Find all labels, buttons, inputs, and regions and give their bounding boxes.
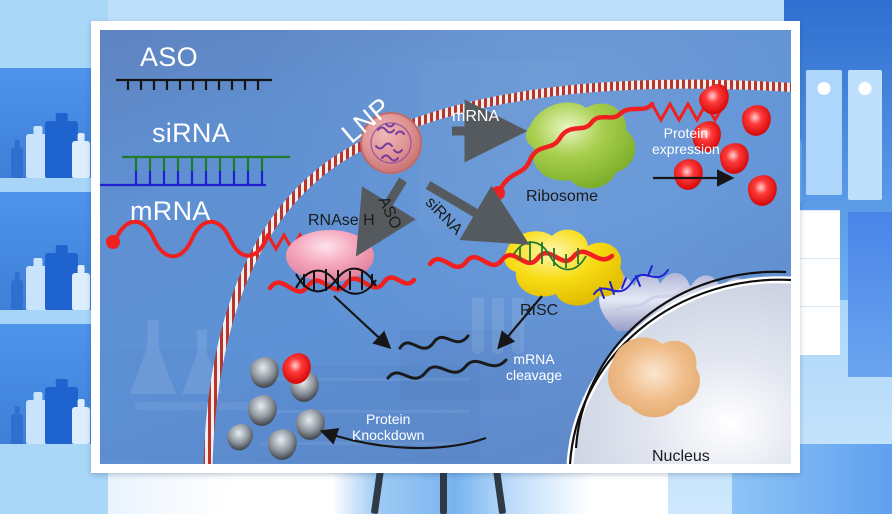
lab-bottle-icon [72,407,90,444]
mrna-cap-icon [491,186,505,200]
mrna-cleavage-line2: cleavage [506,368,562,384]
sirna-duplex-icon [100,157,290,185]
lab-bottle-icon [72,141,90,178]
protein-knockdown-line2: Knockdown [352,428,424,444]
arrow-label-mrna: mRNA [452,108,499,126]
node-label-ribosome: Ribosome [526,188,598,206]
knocked-down-proteins-icon [227,357,325,460]
arrow-rnase-cleavage [334,296,388,346]
outcome-label-mrna-cleavage: mRNA cleavage [506,352,562,383]
binder-hole-icon [859,82,872,95]
protein-expression-line1: Protein [652,126,720,142]
node-label-risc: RISC [520,302,558,320]
mrna-cap-icon [106,235,120,249]
diagram-root: ASO siRNA mRNA LNP mRNA ASO siRNA Riboso… [0,0,892,514]
cell-diagram-svg [100,30,791,464]
legend-label-aso: ASO [140,42,198,72]
legend-label-sirna: siRNA [152,118,230,148]
rnase-h-enzyme-icon [270,230,414,294]
cell-panel: ASO siRNA mRNA LNP mRNA ASO siRNA Riboso… [100,30,791,464]
lab-bottle-icon [11,414,23,444]
outcome-label-protein-knockdown: Protein Knockdown [352,412,424,443]
binder-hole-icon [818,82,831,95]
node-label-rnase-h: RNAse H [308,212,375,230]
counter-side [848,212,892,377]
outcome-label-protein-expression: Protein expression [652,126,720,157]
lab-bottle-icon [11,280,23,310]
lab-bottle-icon [72,273,90,310]
cleaved-mrna-fragments-icon [388,336,506,378]
diagram-frame: ASO siRNA mRNA LNP mRNA ASO siRNA Riboso… [91,21,800,473]
lab-bottle-icon [11,148,23,178]
mrna-cleavage-line1: mRNA [506,352,562,368]
binder-icon [848,70,882,200]
protein-expression-line2: expression [652,142,720,158]
binder-icon [806,70,842,195]
legend-label-mrna: mRNA [130,196,211,226]
aso-strand-icon [116,80,272,90]
protein-knockdown-line1: Protein [352,412,424,428]
node-label-nucleus: Nucleus [652,448,710,464]
